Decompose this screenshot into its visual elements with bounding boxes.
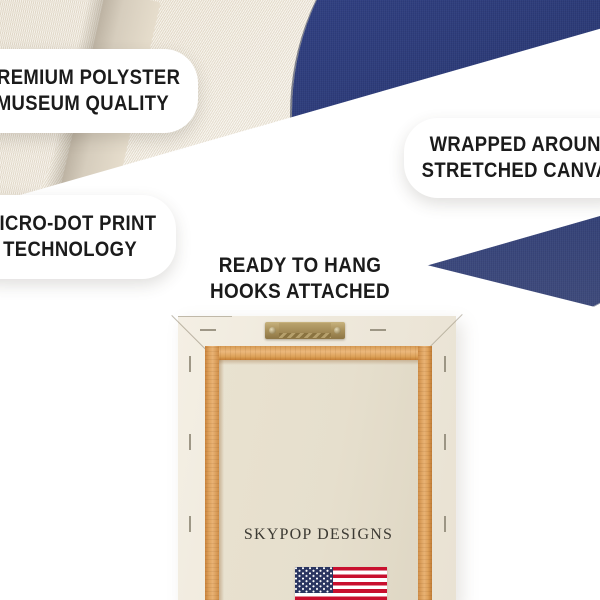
- staple-left-1: [189, 356, 191, 372]
- feature-badge-wrapped-around: WRAPPED AROUND STRETCHED CANVAS: [404, 118, 600, 198]
- hanger-teeth: [279, 333, 331, 338]
- canvas-back-panel: SKYPOP DESIGNS: [205, 346, 432, 600]
- staple-top-left: [200, 329, 216, 331]
- staple-right-3: [444, 516, 446, 532]
- stretcher-bevel-left: [219, 360, 224, 600]
- feature-badge-micro-line1: MICRO-DOT PRINT: [0, 211, 156, 237]
- stretched-canvas-back: SKYPOP DESIGNS: [178, 316, 456, 600]
- stretcher-bar-top: [205, 346, 432, 360]
- flag-canton: [295, 567, 333, 593]
- staple-right-2: [444, 434, 446, 450]
- wood-grain-left: [205, 346, 219, 600]
- wood-grain-right: [418, 346, 432, 600]
- staple-left-3: [189, 516, 191, 532]
- wood-grain-top: [205, 346, 432, 360]
- feature-badge-wrapped-line1: WRAPPED AROUND: [430, 132, 600, 158]
- hanger-screw-right: [334, 327, 341, 334]
- staple-top-right: [370, 329, 386, 331]
- stretcher-bar-right: [418, 346, 432, 600]
- feature-badge-premium-polyster: PREMIUM POLYSTER MUSEUM QUALITY: [0, 49, 198, 133]
- feature-badge-wrapped-line2: STRETCHED CANVAS: [422, 158, 600, 184]
- flag-stars: [295, 567, 333, 593]
- brand-label: SKYPOP DESIGNS: [205, 526, 432, 544]
- caption-line1: READY TO HANG: [30, 253, 570, 279]
- ready-to-hang-caption: READY TO HANG HOOKS ATTACHED: [0, 253, 600, 306]
- sawtooth-hanger: [265, 322, 345, 339]
- stretcher-bevel-top: [219, 360, 418, 365]
- us-flag-icon: [295, 567, 387, 600]
- hanger-screw-left: [269, 327, 276, 334]
- feature-badge-premium-line1: PREMIUM POLYSTER: [0, 65, 180, 91]
- product-infographic: PREMIUM POLYSTER MUSEUM QUALITY MICRO-DO…: [0, 0, 600, 600]
- staple-left-2: [189, 434, 191, 450]
- canvas-back-scene: SKYPOP DESIGNS: [0, 300, 600, 600]
- feature-badge-premium-line2: MUSEUM QUALITY: [0, 91, 169, 117]
- stretcher-bar-left: [205, 346, 219, 600]
- staple-right-1: [444, 356, 446, 372]
